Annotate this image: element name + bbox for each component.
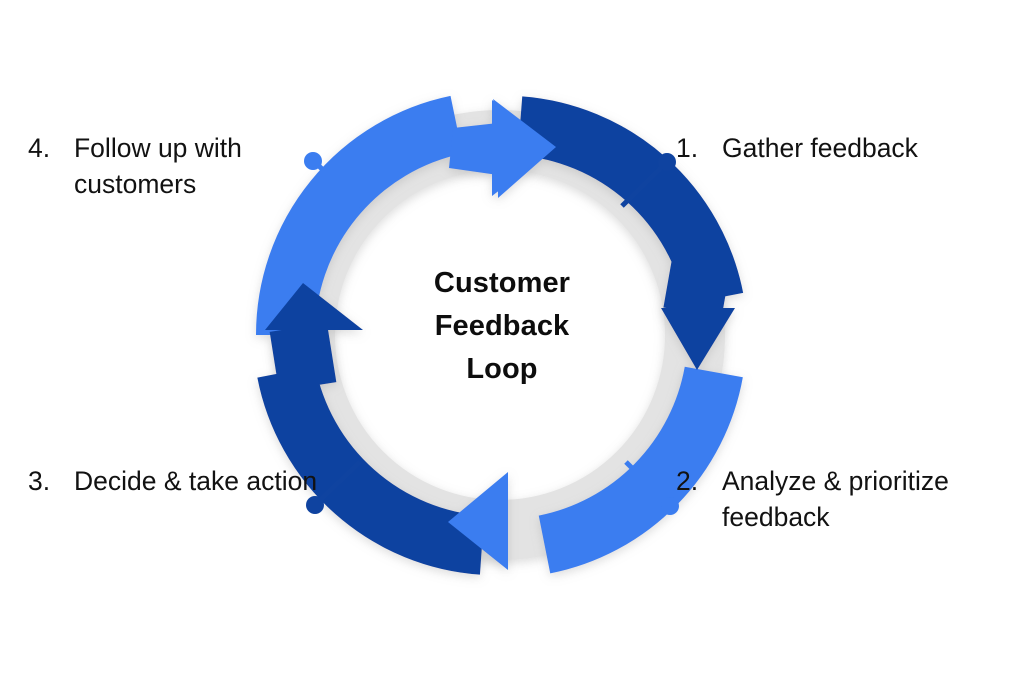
step-number-2: 2. — [676, 463, 722, 535]
arrowhead-left-stem — [270, 323, 337, 391]
step-number-1: 1. — [676, 130, 722, 166]
step-text-3: Decide & take action — [74, 463, 328, 499]
step-text-2: Analyze & prioritize feedback — [722, 463, 1024, 535]
cycle-ring-graphic — [0, 0, 1024, 691]
cycle-diagram: Customer Feedback Loop 1. Gather feedbac… — [0, 0, 1024, 691]
step-label-1: 1. Gather feedback — [676, 130, 1006, 166]
step-number-4: 4. — [28, 130, 74, 202]
center-disc — [374, 209, 626, 461]
arrowhead-right-stem — [663, 250, 731, 317]
step-text-1: Gather feedback — [722, 130, 1006, 166]
connector-dot-step-1 — [658, 153, 676, 171]
step-label-3: 3. Decide & take action — [28, 463, 328, 499]
step-text-4: Follow up with customers — [74, 130, 328, 202]
step-number-3: 3. — [28, 463, 74, 499]
step-label-4: 4. Follow up with customers — [28, 130, 328, 202]
step-label-2: 2. Analyze & prioritize feedback — [676, 463, 1024, 535]
